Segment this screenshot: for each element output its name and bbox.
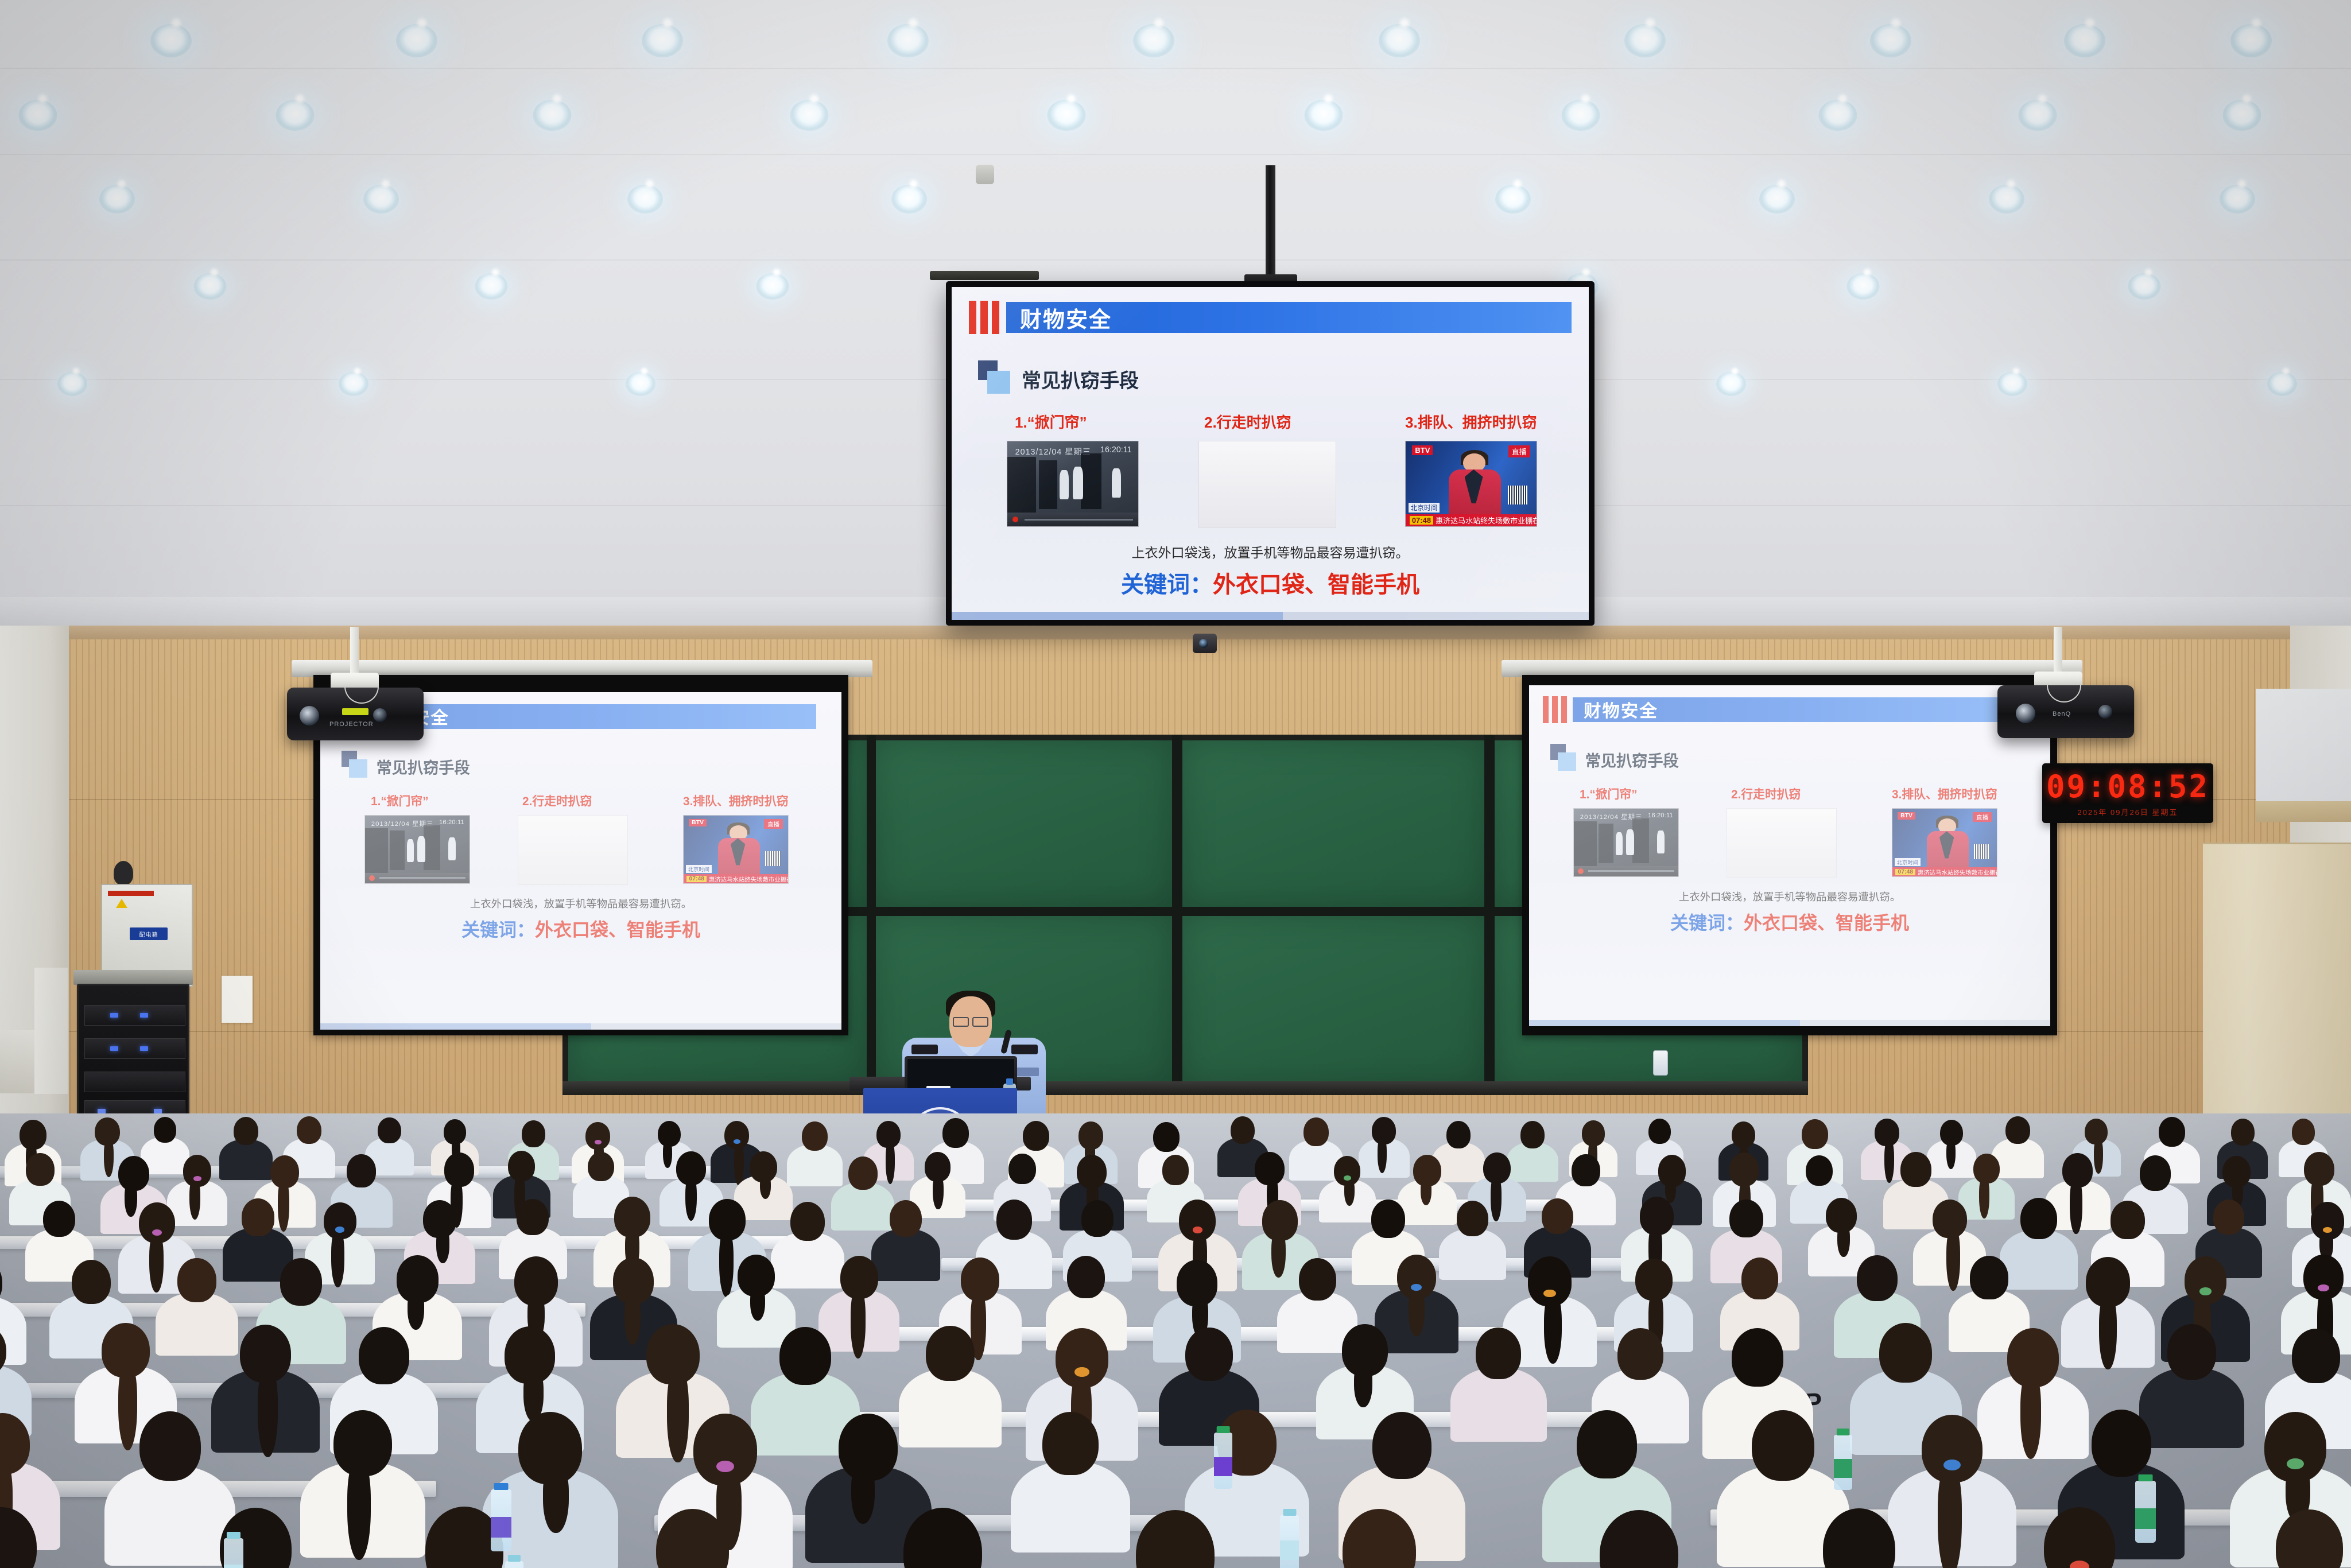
student-head bbox=[1153, 1122, 1180, 1152]
news-time: 07:48 bbox=[1895, 869, 1915, 875]
progress-track[interactable] bbox=[379, 877, 465, 879]
bottle-label bbox=[224, 1565, 243, 1568]
downlight-icon bbox=[363, 185, 399, 214]
keyword-label: 关键词： bbox=[1121, 572, 1213, 597]
bottle-label bbox=[1280, 1540, 1299, 1560]
water-bottle bbox=[1214, 1433, 1232, 1489]
cctv-frame: 2013/12/04 星期三16:20:11 bbox=[1007, 441, 1138, 526]
door-header bbox=[2256, 801, 2351, 822]
header-red-bars-icon bbox=[1543, 696, 1567, 723]
student-ponytail bbox=[258, 1366, 278, 1457]
downlight-icon bbox=[1847, 273, 1880, 300]
slide-header-band: 财物安全 bbox=[1006, 302, 1572, 333]
cctv-player-bar[interactable] bbox=[365, 873, 470, 884]
student-head bbox=[1185, 1328, 1232, 1381]
student-head bbox=[1081, 1200, 1114, 1237]
bottle-label bbox=[2135, 1508, 2156, 1530]
student-head bbox=[1900, 1152, 1931, 1187]
panel-1-cctv-thumbnail: 2013/12/04 星期三16:20:11 bbox=[1573, 808, 1679, 877]
student-head bbox=[588, 1152, 614, 1182]
student-head bbox=[297, 1116, 321, 1144]
student-seated bbox=[2002, 1507, 2157, 1568]
panel-2-blank-media bbox=[1198, 441, 1336, 528]
hair-scrunchie bbox=[595, 1140, 602, 1144]
panel-3-news-thumbnail: BTV直播北京时间07:48惠济达马水站终失场敷市业棚在站的《夜间周刊》 bbox=[1892, 808, 1997, 877]
panel-3-news-thumbnail: BTV直播北京时间07:48惠济达马水站终失场敷市业棚在站的《夜间周刊》 bbox=[683, 815, 789, 884]
downlight-icon bbox=[1819, 100, 1857, 131]
section-marker-light-icon bbox=[349, 759, 367, 778]
student-head bbox=[1806, 1155, 1833, 1186]
student-ponytail bbox=[2099, 1293, 2117, 1369]
cctv-player-bar[interactable] bbox=[1007, 513, 1138, 526]
downlight-icon bbox=[1759, 185, 1795, 214]
bottle-label bbox=[1214, 1457, 1232, 1476]
student-head bbox=[2276, 1509, 2343, 1568]
right-projector-label: BenQ bbox=[2053, 711, 2071, 717]
student-head bbox=[378, 1117, 401, 1143]
downlight-icon bbox=[150, 24, 192, 57]
student-head bbox=[790, 1202, 825, 1241]
student-head bbox=[359, 1327, 409, 1384]
play-icon[interactable] bbox=[1578, 868, 1584, 874]
downlight-icon bbox=[642, 24, 683, 57]
header-red-bars-icon bbox=[969, 301, 999, 334]
keyword-value: 外衣口袋、智能手机 bbox=[1213, 572, 1419, 597]
news-ticker: 惠济达马水站终失场敷市业棚在站的《夜间周刊》 bbox=[709, 875, 788, 883]
slide-section-title: 常见扒窃手段 bbox=[1022, 365, 1139, 393]
student-head bbox=[1741, 1257, 1779, 1299]
student-head bbox=[1303, 1117, 1329, 1146]
student-head bbox=[1617, 1328, 1663, 1380]
slide-keyword-line: 关键词：外衣口袋、智能手机 bbox=[1670, 909, 1909, 935]
hair-scrunchie bbox=[2199, 1287, 2211, 1295]
water-bottle bbox=[1834, 1435, 1852, 1490]
student-head bbox=[656, 1509, 728, 1568]
student-head bbox=[1879, 1323, 1932, 1382]
slide-footer bbox=[320, 1023, 841, 1030]
downlight-icon bbox=[2220, 185, 2255, 214]
student-head bbox=[2044, 1507, 2115, 1568]
downlight-icon bbox=[756, 273, 789, 300]
bottle-cap bbox=[1837, 1429, 1849, 1435]
panel-3-news-thumbnail: BTV直播北京时间07:48惠济达马水站终失场敷市业棚在站的《夜间周刊》 bbox=[1405, 441, 1537, 527]
bottle-label bbox=[491, 1517, 511, 1538]
panel-1-cctv-thumbnail: 2013/12/04 星期三16:20:11 bbox=[1007, 441, 1139, 527]
student-head bbox=[2140, 1155, 2171, 1190]
panel-title-3: 3.排队、拥挤时扒窃 bbox=[1405, 411, 1537, 432]
panel-title-2: 2.行走时扒窃 bbox=[1731, 785, 1801, 802]
clock-date: 2025年 09月26日 星期五 bbox=[2077, 806, 2178, 817]
student-head bbox=[72, 1260, 111, 1305]
student-head bbox=[1802, 1119, 1828, 1149]
downlight-icon bbox=[1870, 24, 1911, 57]
bottle-cap bbox=[508, 1555, 521, 1562]
student-head bbox=[517, 1199, 549, 1235]
student-phone[interactable] bbox=[1653, 1050, 1668, 1076]
student-head bbox=[1371, 1200, 1405, 1238]
channel-logo: BTV bbox=[689, 819, 707, 826]
slide-caption: 上衣外口袋浅，放置手机等物品最容易遭扒窃。 bbox=[1132, 542, 1409, 561]
downlight-icon bbox=[1495, 185, 1531, 214]
student-head bbox=[996, 1200, 1032, 1240]
student-head bbox=[2292, 1119, 2315, 1145]
cctv-frame: 2013/12/04 星期三16:20:11 bbox=[1574, 809, 1678, 876]
water-bottle bbox=[224, 1538, 243, 1568]
student-seated bbox=[858, 1508, 1029, 1568]
bottle-cap bbox=[494, 1483, 508, 1490]
student-head bbox=[154, 1117, 177, 1143]
student-ponytail bbox=[1354, 1361, 1372, 1407]
progress-track[interactable] bbox=[1025, 519, 1133, 521]
student-ponytail bbox=[2020, 1371, 2041, 1459]
speaker-name-badge bbox=[1015, 1068, 1039, 1076]
student-seated bbox=[2236, 1509, 2351, 1568]
hair-scrunchie bbox=[1074, 1367, 1089, 1377]
student-head bbox=[2167, 1324, 2217, 1380]
live-badge: 直播 bbox=[764, 819, 783, 829]
downlight-icon bbox=[627, 185, 663, 214]
slide-footer bbox=[952, 612, 1589, 620]
hair-scrunchie bbox=[335, 1227, 344, 1232]
student-head bbox=[1729, 1200, 1763, 1237]
downlight-icon bbox=[1305, 100, 1343, 131]
student-head bbox=[1752, 1410, 1814, 1481]
warning-stripe bbox=[108, 891, 154, 896]
hair-scrunchie bbox=[193, 1176, 201, 1181]
bottle-cap bbox=[1283, 1509, 1296, 1516]
student-head bbox=[26, 1153, 55, 1186]
student-head bbox=[1823, 1508, 1895, 1568]
downlight-icon bbox=[2128, 273, 2161, 300]
student-seated bbox=[1089, 1510, 1260, 1568]
chalk-tray bbox=[562, 1081, 1808, 1095]
student-ponytail bbox=[347, 1458, 371, 1560]
student-head bbox=[1520, 1121, 1545, 1148]
student-seated bbox=[614, 1509, 771, 1568]
qr-code-icon bbox=[1508, 486, 1527, 504]
student-seated bbox=[1554, 1510, 1724, 1568]
water-bottle bbox=[2135, 1481, 2156, 1543]
student-head bbox=[1446, 1121, 1471, 1149]
led-wall-clock: 09:08:52 2025年 09月26日 星期五 bbox=[2042, 763, 2213, 823]
corner-tag: 北京时间 bbox=[1409, 503, 1440, 513]
student-head bbox=[1857, 1255, 1898, 1301]
tv-mount-pole bbox=[1266, 165, 1275, 280]
smoke-detector-icon bbox=[976, 165, 994, 184]
student-head bbox=[1231, 1116, 1255, 1144]
speaker-epaulet-left bbox=[911, 1045, 938, 1054]
wall-panel-slab bbox=[34, 968, 68, 1094]
student-seated bbox=[178, 1508, 333, 1568]
cctv-clock: 16:20:11 bbox=[1648, 812, 1673, 819]
cabinet-sign: 配电箱 bbox=[130, 927, 168, 940]
student-head bbox=[1372, 1412, 1432, 1479]
bottle-cap bbox=[2138, 1474, 2152, 1481]
student-head bbox=[2092, 1410, 2151, 1477]
downlight-icon bbox=[1997, 372, 2027, 396]
ceiling-tv-display: 财物安全常见扒窃手段1.“掀门帘”2013/12/04 星期三16:20:112… bbox=[946, 281, 1595, 626]
right-projection-screen: 财物安全常见扒窃手段1.“掀门帘”2013/12/04 星期三16:20:112… bbox=[1522, 675, 2057, 1035]
news-lower-third: 07:48惠济达马水站终失场敷市业棚在站的《夜间周刊》 bbox=[684, 874, 788, 884]
student-head bbox=[1457, 1201, 1488, 1236]
water-bottle bbox=[1280, 1515, 1299, 1568]
left-projector-pole bbox=[350, 627, 359, 676]
downlight-icon bbox=[57, 372, 87, 396]
downlight-icon bbox=[1048, 100, 1086, 131]
panel-title-1: 1.“掀门帘” bbox=[371, 791, 429, 809]
student-head bbox=[280, 1258, 323, 1306]
student-head bbox=[1600, 1510, 1678, 1568]
news-lower-third: 07:48惠济达马水站终失场敷市业棚在站的《夜间周刊》 bbox=[1892, 867, 1997, 877]
play-icon[interactable] bbox=[1012, 517, 1018, 522]
downlight-icon bbox=[1379, 24, 1420, 57]
news-time: 07:48 bbox=[1410, 516, 1433, 525]
cctv-clock: 16:20:11 bbox=[1100, 445, 1132, 455]
student-head bbox=[1572, 1154, 1600, 1186]
bottle-label bbox=[1834, 1459, 1852, 1478]
qr-code-icon bbox=[1974, 844, 1989, 859]
cctv-player-bar[interactable] bbox=[1574, 866, 1678, 877]
slide-header-band: 财物安全 bbox=[1573, 697, 2025, 722]
eyeglasses-icon bbox=[953, 1017, 988, 1024]
live-badge: 直播 bbox=[1508, 445, 1530, 457]
right-projector-pole bbox=[2054, 627, 2062, 675]
downlight-icon bbox=[626, 372, 655, 396]
news-time: 07:48 bbox=[686, 876, 707, 882]
student-head bbox=[890, 1200, 922, 1236]
panel-title-3: 3.排队、拥挤时扒窃 bbox=[683, 791, 789, 809]
panel-2-blank-media bbox=[518, 815, 628, 885]
audience-seating-area: A STEP bbox=[0, 1113, 2351, 1568]
student-head bbox=[926, 1326, 974, 1380]
downlight-icon bbox=[2064, 24, 2105, 57]
water-bottle bbox=[505, 1561, 523, 1568]
slide-header: 财物安全 bbox=[1543, 696, 2025, 723]
qr-code-icon bbox=[765, 851, 781, 866]
downlight-icon bbox=[1624, 24, 1666, 57]
student-seated bbox=[380, 1507, 549, 1568]
corner-tag: 北京时间 bbox=[686, 865, 712, 873]
keyword-label: 关键词： bbox=[461, 919, 535, 940]
panel-title-2: 2.行走时扒窃 bbox=[522, 791, 592, 809]
student-head bbox=[1162, 1155, 1189, 1185]
student-seated bbox=[1780, 1508, 1937, 1568]
student-head bbox=[2111, 1201, 2145, 1240]
student-head bbox=[1042, 1412, 1098, 1475]
student-head bbox=[1577, 1410, 1637, 1478]
downlight-icon bbox=[339, 372, 368, 396]
slide-keyword-line: 关键词：外衣口袋、智能手机 bbox=[1121, 566, 1419, 599]
student-head bbox=[1970, 1256, 2008, 1299]
student-seated bbox=[0, 1507, 78, 1568]
student-head bbox=[2005, 1116, 2030, 1144]
cctv-frame: 2013/12/04 星期三16:20:11 bbox=[365, 816, 470, 883]
downlight-icon bbox=[19, 100, 57, 131]
channel-logo: BTV bbox=[1412, 445, 1433, 455]
downlight-icon bbox=[1989, 185, 2024, 214]
camera-icon bbox=[1193, 634, 1217, 653]
wall-camera-icon bbox=[114, 861, 133, 885]
keyword-label: 关键词： bbox=[1670, 913, 1744, 933]
bottle-cap bbox=[227, 1532, 240, 1539]
slide-header-band: 财物安全 bbox=[364, 704, 816, 729]
left-projector-label: PROJECTOR bbox=[329, 721, 374, 728]
section-marker-light-icon bbox=[1558, 752, 1576, 771]
panel-title-2: 2.行走时扒窃 bbox=[1204, 411, 1291, 432]
lecture-hall-photo: 财物安全常见扒窃手段1.“掀门帘”2013/12/04 星期三16:20:112… bbox=[0, 0, 2351, 1568]
downlight-icon bbox=[533, 100, 572, 131]
slide-title: 财物安全 bbox=[1584, 697, 1658, 722]
play-icon[interactable] bbox=[369, 875, 375, 881]
student-ponytail bbox=[1378, 1136, 1387, 1173]
student-head bbox=[242, 1198, 275, 1236]
student-head bbox=[942, 1118, 969, 1148]
slide-keyword-line: 关键词：外衣口袋、智能手机 bbox=[461, 915, 700, 942]
student-head bbox=[1542, 1198, 1573, 1234]
panel-2-blank-media bbox=[1727, 808, 1837, 878]
downlight-icon bbox=[1133, 24, 1174, 57]
news-ticker: 惠济达马水站终失场敷市业棚在站的《夜间周刊》 bbox=[1918, 868, 1997, 876]
downlight-icon bbox=[2223, 100, 2261, 131]
student-head bbox=[802, 1121, 828, 1151]
news-ticker: 惠济达马水站终失场敷市业棚在站的《夜间周刊》 bbox=[1436, 515, 1537, 526]
student-ponytail bbox=[1938, 1464, 1962, 1568]
student-ponytail bbox=[1837, 1223, 1850, 1257]
student-head bbox=[522, 1120, 545, 1147]
student-ponytail bbox=[760, 1174, 771, 1199]
keyword-value: 外衣口袋、智能手机 bbox=[1744, 913, 1909, 933]
water-bottle bbox=[491, 1489, 511, 1551]
news-frame: BTV直播北京时间07:48惠济达马水站终失场敷市业棚在站的《夜间周刊》 bbox=[1406, 441, 1537, 526]
student-head bbox=[1476, 1328, 1521, 1379]
news-frame: BTV直播北京时间07:48惠济达马水站终失场敷市业棚在站的《夜间周刊》 bbox=[684, 816, 788, 883]
bottle-cap bbox=[1217, 1426, 1230, 1433]
cctv-clock: 16:20:11 bbox=[439, 819, 464, 826]
cctv-timestamp: 2013/12/04 星期三 bbox=[1015, 445, 1091, 457]
hair-scrunchie bbox=[2318, 1284, 2329, 1291]
downlight-icon bbox=[2267, 372, 2297, 396]
downlight-icon bbox=[2230, 24, 2272, 57]
downlight-icon bbox=[396, 24, 437, 57]
student-head bbox=[0, 1507, 37, 1568]
slide-caption: 上衣外口袋浅，放置手机等物品最容易遭扒窃。 bbox=[470, 896, 692, 911]
student-head bbox=[347, 1154, 376, 1187]
rack-top-shelf bbox=[73, 970, 193, 985]
live-badge: 直播 bbox=[1973, 812, 1992, 822]
right-upper-wall bbox=[2256, 689, 2351, 804]
downlight-icon bbox=[1562, 100, 1600, 131]
slide-title: 财物安全 bbox=[1020, 302, 1112, 333]
hair-scrunchie bbox=[734, 1139, 740, 1144]
downlight-icon bbox=[891, 185, 927, 214]
news-lower-third: 07:48惠济达马水站终失场敷市业棚在站的《夜间周刊》 bbox=[1406, 514, 1537, 526]
channel-logo: BTV bbox=[1898, 812, 1915, 820]
section-marker-light-icon bbox=[987, 371, 1010, 394]
student-head bbox=[139, 1411, 201, 1481]
wall-notice-paper bbox=[222, 976, 253, 1023]
downlight-icon bbox=[790, 100, 829, 131]
student-head bbox=[1343, 1509, 1416, 1568]
hair-scrunchie bbox=[1193, 1227, 1203, 1233]
student-seated bbox=[1299, 1509, 1458, 1568]
student-head bbox=[2292, 1329, 2340, 1383]
tv-sensor-bar bbox=[930, 271, 1039, 280]
corner-tag: 北京时间 bbox=[1895, 858, 1921, 866]
downlight-icon bbox=[887, 24, 929, 57]
slide-caption: 上衣外口袋浅，放置手机等物品最容易遭扒窃。 bbox=[1679, 889, 1900, 904]
downlight-icon bbox=[2019, 100, 2057, 131]
keyword-value: 外衣口袋、智能手机 bbox=[535, 919, 700, 940]
hair-scrunchie bbox=[1344, 1175, 1351, 1180]
student-head bbox=[1648, 1119, 1671, 1144]
student-ponytail bbox=[750, 1285, 765, 1321]
student-head bbox=[1732, 1328, 1784, 1387]
panel-title-1: 1.“掀门帘” bbox=[1580, 785, 1638, 802]
downlight-icon bbox=[276, 100, 315, 131]
student-head bbox=[1299, 1258, 1337, 1301]
downlight-icon bbox=[1716, 372, 1746, 396]
student-head bbox=[2159, 1117, 2185, 1147]
panel-1-cctv-thumbnail: 2013/12/04 星期三16:20:11 bbox=[364, 815, 470, 884]
news-frame: BTV直播北京时间07:48惠济达马水站终失场敷市业棚在站的《夜间周刊》 bbox=[1892, 809, 1997, 876]
downlight-icon bbox=[99, 185, 135, 214]
slide-section-title: 常见扒窃手段 bbox=[1585, 748, 1679, 771]
warning-triangle-icon bbox=[116, 899, 127, 908]
student-head bbox=[2020, 1198, 2057, 1239]
slide-footer bbox=[1529, 1020, 2050, 1026]
student-head bbox=[1067, 1256, 1105, 1299]
student-head bbox=[848, 1156, 878, 1190]
downlight-icon bbox=[475, 273, 508, 300]
hair-scrunchie bbox=[1543, 1290, 1555, 1298]
slide-section-title: 常见扒窃手段 bbox=[377, 755, 470, 778]
student-head bbox=[1023, 1121, 1049, 1151]
student-head bbox=[2231, 1119, 2255, 1146]
clock-time: 09:08:52 bbox=[2046, 771, 2209, 802]
progress-track[interactable] bbox=[1588, 870, 1674, 872]
slide-header: 财物安全 bbox=[969, 301, 1572, 334]
student-head bbox=[2213, 1200, 2245, 1235]
student-ponytail bbox=[408, 1289, 424, 1330]
student-head bbox=[1136, 1510, 1215, 1568]
panel-title-3: 3.排队、拥挤时扒窃 bbox=[1892, 785, 1997, 802]
student-head bbox=[43, 1201, 75, 1237]
speaker-epaulet-right bbox=[1011, 1045, 1038, 1054]
panel-title-1: 1.“掀门帘” bbox=[1015, 411, 1087, 432]
student-head bbox=[177, 1258, 216, 1302]
student-head bbox=[903, 1508, 982, 1568]
downlight-icon bbox=[194, 273, 227, 300]
student-head bbox=[234, 1117, 259, 1145]
student-head bbox=[1008, 1154, 1035, 1184]
student-head bbox=[779, 1327, 831, 1385]
hair-scrunchie bbox=[1943, 1460, 1960, 1470]
